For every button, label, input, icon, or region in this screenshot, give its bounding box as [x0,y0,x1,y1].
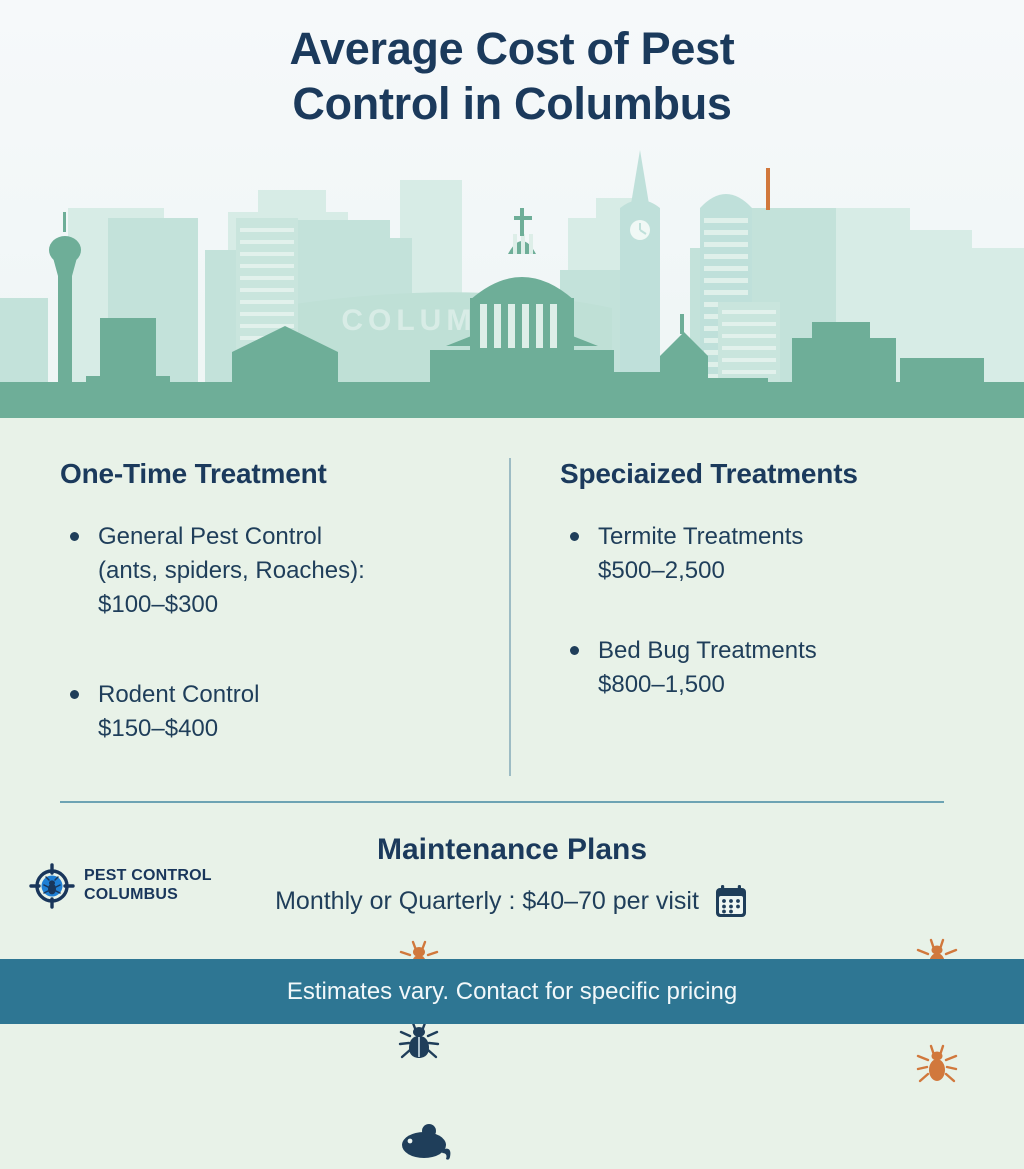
brand-logo: PEST CONTROL COLUMBUS [28,862,212,910]
list-item-line: $500–2,500 [598,554,990,588]
list-item-line: Bed Bug Treatments [598,634,990,668]
columbus-skyline-illustration: COLUMBUS [0,150,1024,418]
section-divider [60,801,944,803]
list-item-bed-bug-treatments: Bed Bug Treatments $800–1,500 [560,634,990,702]
list-item-line: (ants, spiders, Roaches): [98,554,490,588]
page-title-line-1: Average Cost of Pest [0,22,1024,77]
page-title-line-2: Control in Columbus [0,77,1024,132]
maintenance-subtitle: Monthly or Quarterly : $40–70 per visit [275,887,699,916]
mouse-icon [396,1121,456,1169]
list-item-rodent-control: Rodent Control $150–$400 [60,678,490,746]
brand-logo-text: PEST CONTROL COLUMBUS [84,867,212,905]
footer-disclaimer: Estimates vary. Contact for specific pri… [287,978,737,1006]
tower-antenna-icon [766,168,770,210]
list-item-general-pest-control: General Pest Control (ants, spiders, Roa… [60,520,490,622]
header-section: Average Cost of Pest Control in Columbus [0,0,1024,418]
maintenance-subtitle-row: Monthly or Quarterly : $40–70 per visit [275,883,749,919]
page-title: Average Cost of Pest Control in Columbus [0,22,1024,132]
list-item-line: $150–$400 [98,712,490,746]
column-divider [509,458,511,776]
column-heading-specialized: Speciaized Treatments [560,458,990,490]
list-item-line: $100–$300 [98,588,490,622]
brand-logo-line-2: COLUMBUS [84,886,212,905]
list-item-line: General Pest Control [98,520,490,554]
column-one-time-treatment: One-Time Treatment General Pest Control … [60,458,490,774]
bedbug-icon [913,1040,961,1088]
list-item-termite-treatments: Termite Treatments $500–2,500 [560,520,990,588]
list-item-line: Termite Treatments [598,520,990,554]
column-heading-one-time: One-Time Treatment [60,458,490,490]
skyline-svg: COLUMBUS [0,150,1024,418]
footer-bar: Estimates vary. Contact for specific pri… [0,959,1024,1024]
calendar-icon [713,883,749,919]
crosshair-bug-logo-icon [28,862,76,910]
list-item-line: Rodent Control [98,678,490,712]
brand-logo-line-1: PEST CONTROL [84,867,212,886]
list-item-line: $800–1,500 [598,668,990,702]
column-specialized-treatments: Speciaized Treatments Termite Treatments… [560,458,990,730]
